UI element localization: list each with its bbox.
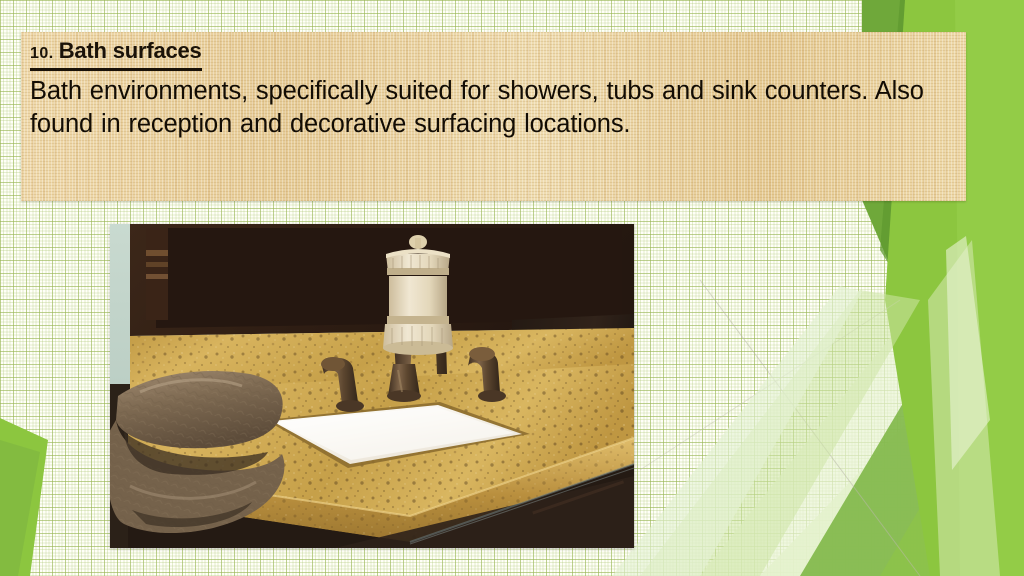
- caption-heading: 10. Bath surfaces: [30, 38, 958, 71]
- caption-body: Bath environments, specifically suited f…: [30, 75, 958, 141]
- bathroom-vanity-photo: Bathroom vanity with speckled tan granit…: [110, 224, 634, 548]
- photo-mirror-moulding: [146, 228, 168, 320]
- photo-canister: [383, 235, 453, 355]
- caption-number: 10.: [30, 45, 59, 62]
- slide-canvas: 10. Bath surfaces Bath environments, spe…: [0, 0, 1024, 576]
- caption-title: Bath surfaces: [59, 38, 202, 63]
- caption-textbox: 10. Bath surfaces Bath environments, spe…: [21, 32, 966, 201]
- caption-content: 10. Bath surfaces Bath environments, spe…: [30, 38, 958, 141]
